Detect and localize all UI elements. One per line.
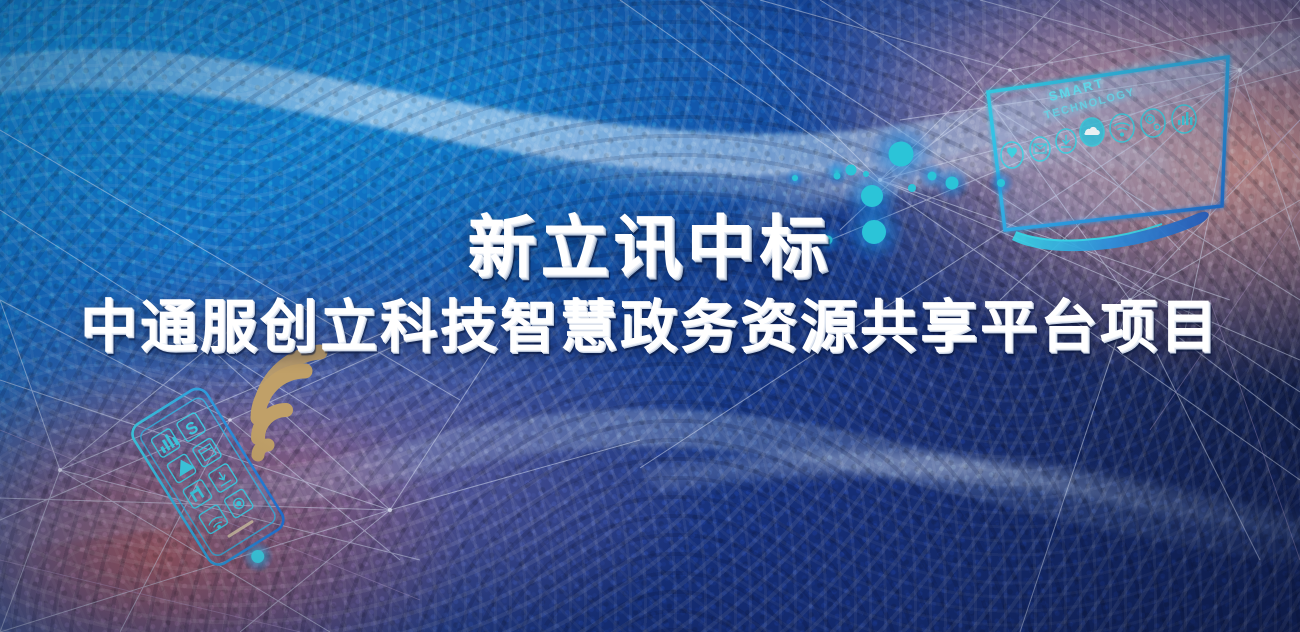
sub-title: 中通服创立科技智慧政务资源共享平台项目: [0, 299, 1300, 356]
main-title: 新立讯中标: [0, 215, 1300, 283]
banner-image: SMART TECHNOLOGY: [0, 0, 1300, 632]
title-block: 新立讯中标 中通服创立科技智慧政务资源共享平台项目: [0, 215, 1300, 356]
